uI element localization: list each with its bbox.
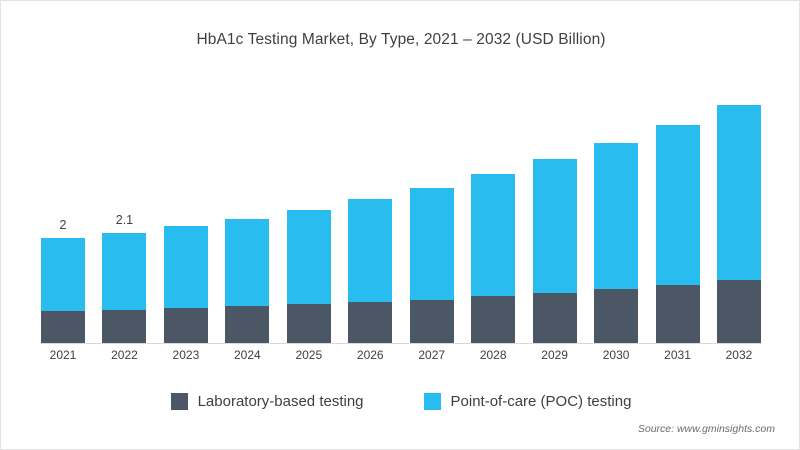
- x-axis-tick-labels: 2021202220232024202520262027202820292030…: [41, 348, 761, 362]
- x-axis-tick-label: 2032: [717, 348, 761, 362]
- bar-segment-poc[interactable]: [594, 143, 638, 289]
- bar-stack[interactable]: [717, 105, 761, 343]
- bar-column[interactable]: [410, 71, 454, 343]
- legend-swatch-icon: [424, 393, 441, 410]
- x-axis-tick-label: 2028: [471, 348, 515, 362]
- bar-stack[interactable]: [164, 226, 208, 343]
- legend-label: Laboratory-based testing: [198, 393, 364, 410]
- bar-segment-poc[interactable]: [348, 199, 392, 302]
- legend-label: Point-of-care (POC) testing: [451, 393, 632, 410]
- x-axis-tick-label: 2021: [41, 348, 85, 362]
- bar-group: 22.1: [41, 71, 761, 343]
- bar-column[interactable]: [656, 71, 700, 343]
- x-axis-tick-label: 2025: [287, 348, 331, 362]
- bar-segment-poc[interactable]: [287, 210, 331, 305]
- bar-stack[interactable]: [471, 174, 515, 343]
- x-axis-line: [41, 343, 761, 344]
- bar-stack[interactable]: [287, 210, 331, 343]
- legend-item-point-of-care-testing: Point-of-care (POC) testing: [424, 393, 632, 410]
- bar-column[interactable]: [594, 71, 638, 343]
- legend-item-laboratory-based-testing: Laboratory-based testing: [171, 393, 364, 410]
- bar-segment-poc[interactable]: [225, 219, 269, 306]
- bar-segment-laboratory[interactable]: [164, 308, 208, 343]
- bar-segment-laboratory[interactable]: [533, 293, 577, 343]
- bar-column[interactable]: [348, 71, 392, 343]
- plot-area: 22.1: [41, 71, 761, 343]
- bar-column[interactable]: [471, 71, 515, 343]
- legend-swatch-icon: [171, 393, 188, 410]
- chart-title: HbA1c Testing Market, By Type, 2021 – 20…: [1, 31, 800, 49]
- bar-column[interactable]: 2: [41, 71, 85, 343]
- bar-segment-laboratory[interactable]: [287, 304, 331, 343]
- bar-value-label: 2.1: [102, 213, 146, 227]
- bar-segment-laboratory[interactable]: [594, 289, 638, 343]
- bar-column[interactable]: [717, 71, 761, 343]
- bar-segment-poc[interactable]: [164, 226, 208, 308]
- bar-stack[interactable]: [41, 238, 85, 343]
- bar-stack[interactable]: [410, 188, 454, 343]
- bar-column[interactable]: 2.1: [102, 71, 146, 343]
- bar-column[interactable]: [164, 71, 208, 343]
- bar-segment-laboratory[interactable]: [41, 311, 85, 343]
- bar-segment-poc[interactable]: [533, 159, 577, 293]
- bar-column[interactable]: [287, 71, 331, 343]
- bar-stack[interactable]: [102, 233, 146, 343]
- x-axis-tick-label: 2023: [164, 348, 208, 362]
- x-axis-tick-label: 2031: [656, 348, 700, 362]
- x-axis-tick-label: 2030: [594, 348, 638, 362]
- bar-segment-laboratory[interactable]: [717, 280, 761, 343]
- bar-stack[interactable]: [656, 125, 700, 343]
- x-axis-tick-label: 2024: [225, 348, 269, 362]
- x-axis-tick-label: 2022: [102, 348, 146, 362]
- bar-segment-laboratory[interactable]: [102, 310, 146, 343]
- bar-segment-poc[interactable]: [102, 233, 146, 309]
- bar-segment-poc[interactable]: [41, 238, 85, 310]
- bar-stack[interactable]: [594, 143, 638, 343]
- bar-segment-poc[interactable]: [656, 125, 700, 285]
- bar-stack[interactable]: [225, 219, 269, 343]
- bar-segment-poc[interactable]: [471, 174, 515, 296]
- bar-value-label: 2: [41, 218, 85, 232]
- bar-segment-laboratory[interactable]: [348, 302, 392, 343]
- bar-segment-laboratory[interactable]: [410, 300, 454, 343]
- chart-legend: Laboratory-based testing Point-of-care (…: [1, 393, 800, 410]
- x-axis-tick-label: 2027: [410, 348, 454, 362]
- bar-segment-poc[interactable]: [410, 188, 454, 300]
- source-credit: Source: www.gminsights.com: [638, 423, 775, 435]
- x-axis-tick-label: 2029: [533, 348, 577, 362]
- bar-segment-laboratory[interactable]: [225, 306, 269, 343]
- bar-column[interactable]: [533, 71, 577, 343]
- bar-column[interactable]: [225, 71, 269, 343]
- bar-stack[interactable]: [348, 199, 392, 343]
- bar-stack[interactable]: [533, 159, 577, 343]
- bar-segment-laboratory[interactable]: [471, 296, 515, 343]
- x-axis-tick-label: 2026: [348, 348, 392, 362]
- chart-frame: HbA1c Testing Market, By Type, 2021 – 20…: [0, 0, 800, 450]
- bar-segment-poc[interactable]: [717, 105, 761, 280]
- bar-segment-laboratory[interactable]: [656, 285, 700, 343]
